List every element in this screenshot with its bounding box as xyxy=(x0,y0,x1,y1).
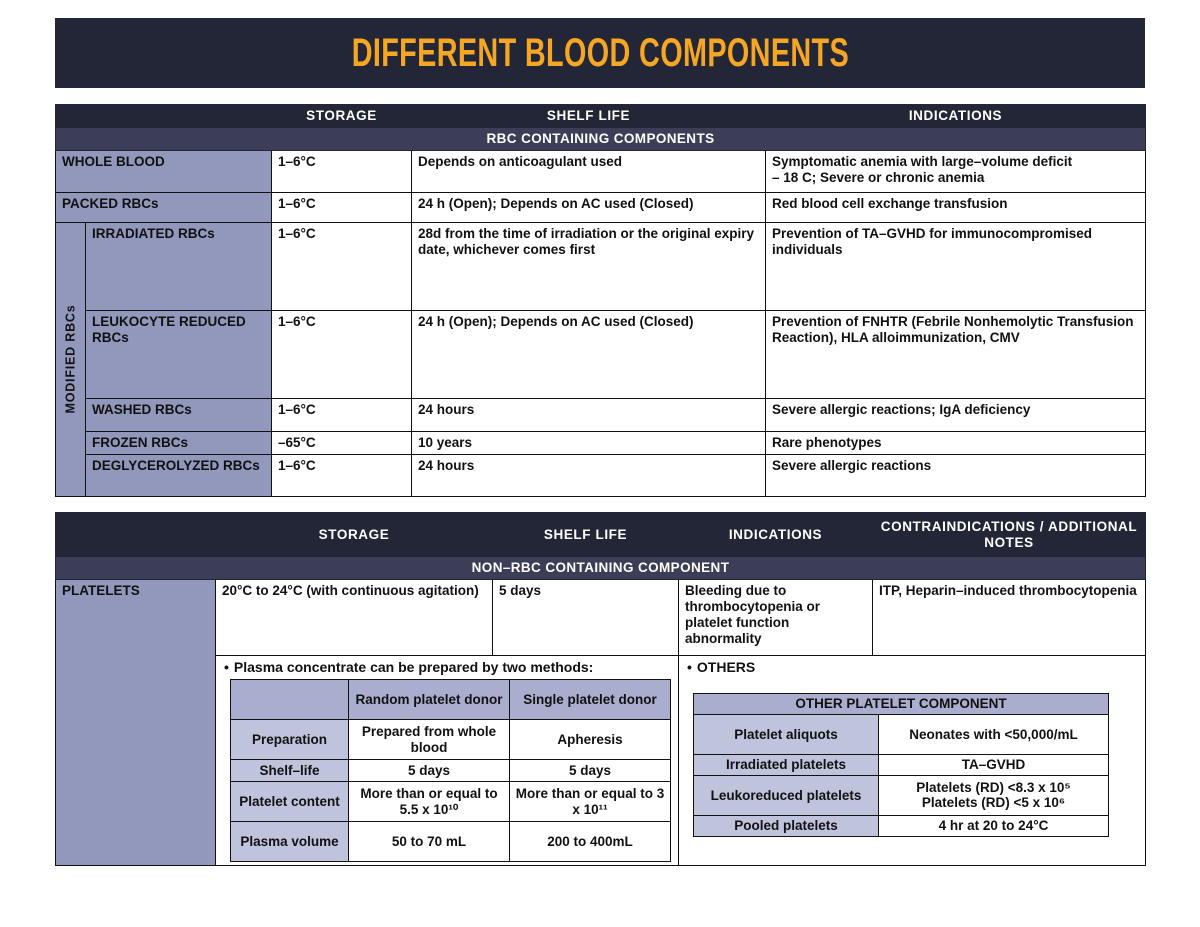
sub-row: Plasma volume 50 to 70 mL 200 to 400mL xyxy=(231,822,671,862)
header-shelf-life: SHELF LIFE xyxy=(412,105,766,128)
bullet-dot-icon: • xyxy=(687,659,692,675)
cell-contraindications: ITP, Heparin–induced thrombocytopenia xyxy=(873,579,1146,655)
cell-shelf-life: 5 days xyxy=(493,579,679,655)
group-label-modified-rbcs: MODIFIED RBCs xyxy=(56,222,86,496)
sub-header-blank xyxy=(231,680,349,720)
sub-row: Platelet aliquots Neonates with <50,000/… xyxy=(694,714,1109,754)
header-blank xyxy=(56,105,272,128)
cell-storage: 1–6°C xyxy=(272,222,412,310)
cell-shelf-life: 10 years xyxy=(412,431,766,454)
sub-header-single-donor: Single platelet donor xyxy=(510,680,671,720)
platelet-methods-table: Random platelet donor Single platelet do… xyxy=(230,679,671,862)
cell-shelf-life: 24 h (Open); Depends on AC used (Closed) xyxy=(412,192,766,222)
rbc-components-table-wrapper: STORAGE SHELF LIFE INDICATIONS RBC CONTA… xyxy=(55,104,1145,497)
table-detail-row: •Plasma concentrate can be prepared by t… xyxy=(56,655,1146,866)
sub-row-label-pooled-platelets: Pooled platelets xyxy=(694,815,879,836)
row-label-irradiated-rbcs: IRRADIATED RBCs xyxy=(86,222,272,310)
bullet-dot-icon: • xyxy=(224,659,229,675)
sub-row-label-leukoreduced-platelets: Leukoreduced platelets xyxy=(694,775,879,815)
sub-cell-single: More than or equal to 3 x 10¹¹ xyxy=(510,782,671,822)
cell-indications: Red blood cell exchange transfusion xyxy=(766,192,1146,222)
table-header-row: STORAGE SHELF LIFE INDICATIONS CONTRAIND… xyxy=(56,513,1146,557)
sub-cell-random: More than or equal to 5.5 x 10¹⁰ xyxy=(349,782,510,822)
sub-cell-random: 5 days xyxy=(349,760,510,782)
row-label-packed-rbcs: PACKED RBCs xyxy=(56,192,272,222)
table-row: WASHED RBCs 1–6°C 24 hours Severe allerg… xyxy=(56,398,1146,431)
sub-row: Platelet content More than or equal to 5… xyxy=(231,782,671,822)
cell-storage: 1–6°C xyxy=(272,150,412,192)
table-header-row: STORAGE SHELF LIFE INDICATIONS xyxy=(56,105,1146,128)
table-row: DEGLYCEROLYZED RBCs 1–6°C 24 hours Sever… xyxy=(56,454,1146,496)
non-rbc-section-banner: NON–RBC CONTAINING COMPONENT xyxy=(56,557,1146,580)
cell-indications: Prevention of TA–GVHD for immunocompromi… xyxy=(766,222,1146,310)
sub-row: Leukoreduced platelets Platelets (RD) <8… xyxy=(694,775,1109,815)
cell-storage: 1–6°C xyxy=(272,192,412,222)
other-platelet-component-table: OTHER PLATELET COMPONENT Platelet aliquo… xyxy=(693,693,1109,837)
cell-indications: Severe allergic reactions; IgA deficienc… xyxy=(766,398,1146,431)
cell-shelf-life: 24 h (Open); Depends on AC used (Closed) xyxy=(412,310,766,398)
page-title: DIFFERENT BLOOD COMPONENTS xyxy=(351,31,848,76)
bullet-plasma-methods-text: Plasma concentrate can be prepared by tw… xyxy=(234,659,593,675)
sub-cell-single: Apheresis xyxy=(510,720,671,760)
cell-indications: Prevention of FNHTR (Febrile Nonhemolyti… xyxy=(766,310,1146,398)
table-row: LEUKOCYTE REDUCED RBCs 1–6°C 24 h (Open)… xyxy=(56,310,1146,398)
title-banner: DIFFERENT BLOOD COMPONENTS xyxy=(55,18,1145,88)
header-indications: INDICATIONS xyxy=(679,513,873,557)
document-page: DIFFERENT BLOOD COMPONENTS STORAGE SHELF… xyxy=(0,0,1200,927)
sub-header-row: Random platelet donor Single platelet do… xyxy=(231,680,671,720)
table-row: PLATELETS 20°C to 24°C (with continuous … xyxy=(56,579,1146,655)
sub-cell-value: Platelets (RD) <8.3 x 10⁵ Platelets (RD)… xyxy=(879,775,1109,815)
row-label-leukocyte-reduced-rbcs: LEUKOCYTE REDUCED RBCs xyxy=(86,310,272,398)
table-row: MODIFIED RBCs IRRADIATED RBCs 1–6°C 28d … xyxy=(56,222,1146,310)
row-label-whole-blood: WHOLE BLOOD xyxy=(56,150,272,192)
cell-indications: Rare phenotypes xyxy=(766,431,1146,454)
header-indications: INDICATIONS xyxy=(766,105,1146,128)
rbc-section-banner: RBC CONTAINING COMPONENTS xyxy=(56,127,1146,150)
row-label-washed-rbcs: WASHED RBCs xyxy=(86,398,272,431)
cell-indications: Severe allergic reactions xyxy=(766,454,1146,496)
table-row: FROZEN RBCs –65°C 10 years Rare phenotyp… xyxy=(56,431,1146,454)
sub-header-random-donor: Random platelet donor xyxy=(349,680,510,720)
section-banner-row: NON–RBC CONTAINING COMPONENT xyxy=(56,557,1146,580)
header-shelf-life: SHELF LIFE xyxy=(493,513,679,557)
cell-shelf-life: Depends on anticoagulant used xyxy=(412,150,766,192)
sub-row-label-platelet-content: Platelet content xyxy=(231,782,349,822)
header-contraindications: CONTRAINDICATIONS / ADDITIONAL NOTES xyxy=(873,513,1146,557)
cell-shelf-life: 24 hours xyxy=(412,398,766,431)
other-platelet-cell: •OTHERS OTHER PLATELET COMPONENT Platele… xyxy=(679,655,1146,866)
sub-cell-value: Neonates with <50,000/mL xyxy=(879,714,1109,754)
bullet-others: •OTHERS xyxy=(685,659,1139,676)
cell-indications: Symptomatic anemia with large–volume def… xyxy=(766,150,1146,192)
cell-storage: 1–6°C xyxy=(272,310,412,398)
row-label-platelets: PLATELETS xyxy=(56,579,216,866)
row-label-frozen-rbcs: FROZEN RBCs xyxy=(86,431,272,454)
cell-storage: 20°C to 24°C (with continuous agitation) xyxy=(216,579,493,655)
sub-cell-value: TA–GVHD xyxy=(879,754,1109,775)
sub-row: Pooled platelets 4 hr at 20 to 24°C xyxy=(694,815,1109,836)
sub-row-label-irradiated-platelets: Irradiated platelets xyxy=(694,754,879,775)
sub-row-label-platelet-aliquots: Platelet aliquots xyxy=(694,714,879,754)
sub-cell-value: 4 hr at 20 to 24°C xyxy=(879,815,1109,836)
row-label-platelets-text: PLATELETS xyxy=(62,583,140,598)
sub-row-label-plasma-volume: Plasma volume xyxy=(231,822,349,862)
row-label-deglycerolyzed-rbcs: DEGLYCEROLYZED RBCs xyxy=(86,454,272,496)
sub-row: Preparation Prepared from whole blood Ap… xyxy=(231,720,671,760)
cell-storage: 1–6°C xyxy=(272,398,412,431)
sub-row-label-preparation: Preparation xyxy=(231,720,349,760)
table-row: PACKED RBCs 1–6°C 24 h (Open); Depends o… xyxy=(56,192,1146,222)
cell-storage: 1–6°C xyxy=(272,454,412,496)
cell-shelf-life: 24 hours xyxy=(412,454,766,496)
platelet-methods-cell: •Plasma concentrate can be prepared by t… xyxy=(216,655,679,866)
group-label-text: MODIFIED RBCs xyxy=(63,305,78,414)
table-row: WHOLE BLOOD 1–6°C Depends on anticoagula… xyxy=(56,150,1146,192)
cell-storage: –65°C xyxy=(272,431,412,454)
header-storage: STORAGE xyxy=(216,513,493,557)
non-rbc-components-table-wrapper: STORAGE SHELF LIFE INDICATIONS CONTRAIND… xyxy=(55,512,1145,866)
sub-cell-single: 5 days xyxy=(510,760,671,782)
rbc-components-table: STORAGE SHELF LIFE INDICATIONS RBC CONTA… xyxy=(55,104,1146,497)
bullet-plasma-methods: •Plasma concentrate can be prepared by t… xyxy=(222,659,672,676)
section-banner-row: RBC CONTAINING COMPONENTS xyxy=(56,127,1146,150)
sub-cell-single: 200 to 400mL xyxy=(510,822,671,862)
non-rbc-components-table: STORAGE SHELF LIFE INDICATIONS CONTRAIND… xyxy=(55,512,1146,866)
cell-shelf-life: 28d from the time of irradiation or the … xyxy=(412,222,766,310)
sub-cell-random: 50 to 70 mL xyxy=(349,822,510,862)
header-blank xyxy=(56,513,216,557)
bullet-others-text: OTHERS xyxy=(697,659,755,675)
sub-row-label-shelf-life: Shelf–life xyxy=(231,760,349,782)
cell-indications: Bleeding due to thrombocytopenia or plat… xyxy=(679,579,873,655)
sub-header-row: OTHER PLATELET COMPONENT xyxy=(694,694,1109,715)
sub-row: Irradiated platelets TA–GVHD xyxy=(694,754,1109,775)
other-platelet-title: OTHER PLATELET COMPONENT xyxy=(694,694,1109,715)
header-storage: STORAGE xyxy=(272,105,412,128)
sub-row: Shelf–life 5 days 5 days xyxy=(231,760,671,782)
sub-cell-random: Prepared from whole blood xyxy=(349,720,510,760)
